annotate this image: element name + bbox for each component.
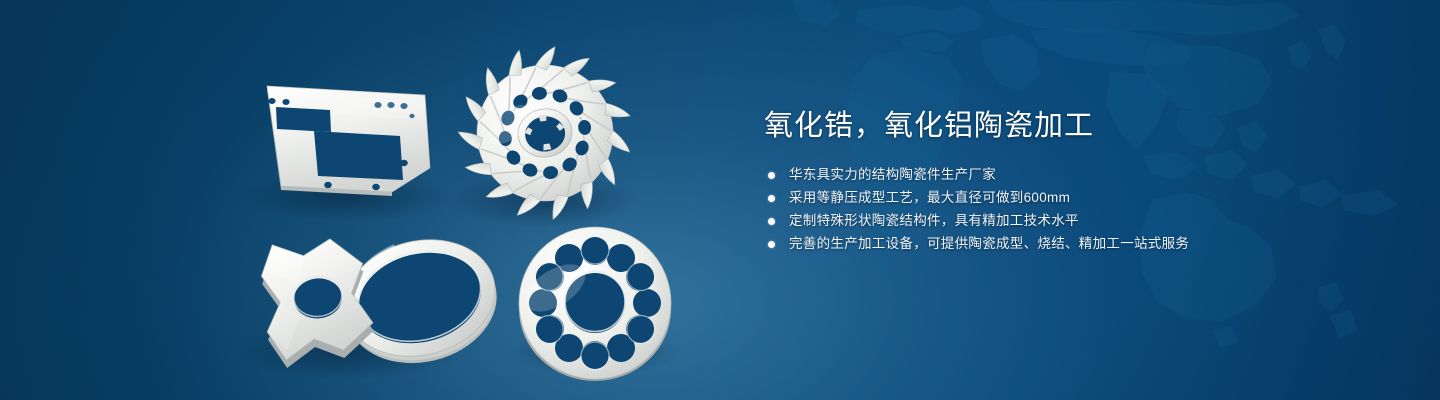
bullet-dot-icon [768,195,775,202]
feature-item-label: 采用等静压成型工艺，最大直径可做到600mm [789,187,1070,209]
ceramic-mounting-plate [267,86,430,196]
feature-item-label: 定制特殊形状陶瓷结构件，具有精加工技术水平 [789,210,1079,232]
hero-banner: 氧化锆，氧化铝陶瓷加工 华东具实力的结构陶瓷件生产厂家 采用等静压成型工艺，最大… [0,0,1440,400]
feature-item: 华东具实力的结构陶瓷件生产厂家 [764,164,1404,186]
feature-item: 采用等静压成型工艺，最大直径可做到600mm [764,187,1404,209]
feature-item: 定制特殊形状陶瓷结构件，具有精加工技术水平 [764,210,1404,232]
bullet-dot-icon [768,172,775,179]
feature-item-label: 华东具实力的结构陶瓷件生产厂家 [789,164,996,186]
feature-list: 华东具实力的结构陶瓷件生产厂家 采用等静压成型工艺，最大直径可做到600mm 定… [764,164,1404,255]
ceramic-perforated-disc [517,227,671,381]
bullet-dot-icon [768,241,775,248]
ceramic-products-image [0,0,720,400]
feature-item: 完善的生产加工设备，可提供陶瓷成型、烧结、精加工一站式服务 [764,233,1404,255]
bullet-dot-icon [768,218,775,225]
banner-copy: 氧化锆，氧化铝陶瓷加工 华东具实力的结构陶瓷件生产厂家 采用等静压成型工艺，最大… [764,106,1404,256]
feature-item-label: 完善的生产加工设备，可提供陶瓷成型、烧结、精加工一站式服务 [789,233,1189,255]
banner-headline: 氧化锆，氧化铝陶瓷加工 [764,106,1404,146]
